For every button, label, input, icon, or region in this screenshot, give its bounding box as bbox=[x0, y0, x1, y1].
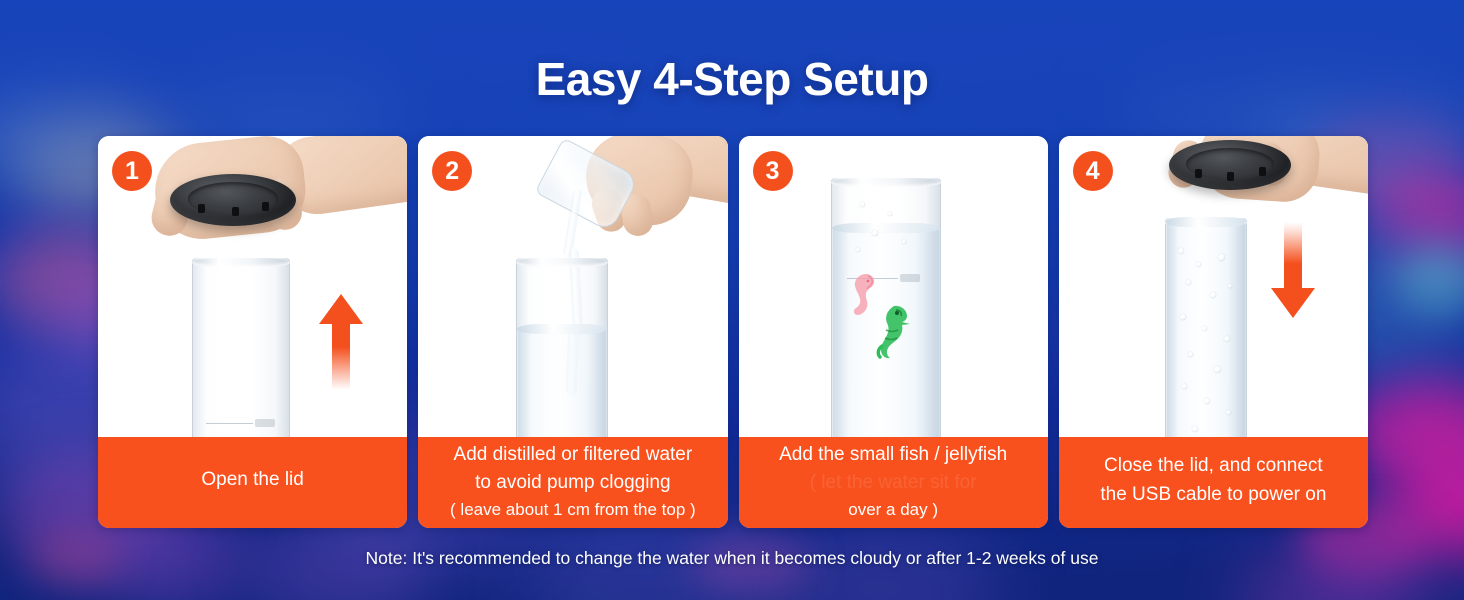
step-3-photo: 3 bbox=[739, 136, 1048, 437]
tank-tick-mark bbox=[206, 423, 252, 424]
bubble bbox=[1192, 426, 1198, 432]
tank bbox=[1165, 218, 1247, 437]
bubble bbox=[1186, 280, 1191, 285]
step-number-badge-3: 3 bbox=[753, 151, 793, 191]
bubble bbox=[1210, 292, 1216, 298]
bubble bbox=[856, 248, 860, 252]
arrow-shaft bbox=[332, 323, 350, 390]
bubble bbox=[1228, 284, 1232, 288]
bubble bbox=[872, 230, 878, 236]
lid-notch bbox=[1195, 169, 1202, 178]
step-3-caption: Add the small fish / jellyfish ( let the… bbox=[739, 437, 1048, 528]
step-4-caption: Close the lid, and connect the USB cable… bbox=[1059, 437, 1368, 528]
tank-rim bbox=[516, 258, 608, 267]
bubble bbox=[1180, 314, 1186, 320]
step-card-1[interactable]: 1 bbox=[98, 136, 407, 528]
step-4-photo: 4 bbox=[1059, 136, 1368, 437]
tank bbox=[516, 258, 608, 437]
step-card-4[interactable]: 4 bbox=[1059, 136, 1368, 528]
tank bbox=[831, 178, 941, 437]
caption-line: ( leave about 1 cm from the top ) bbox=[450, 497, 696, 522]
step-number-badge-2: 2 bbox=[432, 151, 472, 191]
arrow-head bbox=[319, 294, 363, 324]
step-2-photo: 2 bbox=[418, 136, 727, 437]
step-1-photo: 1 bbox=[98, 136, 407, 437]
down-arrow-icon bbox=[1271, 222, 1315, 318]
lid-notch bbox=[1259, 167, 1266, 176]
bubble bbox=[1226, 410, 1231, 415]
arrow-head bbox=[1271, 288, 1315, 318]
step-number-badge-1: 1 bbox=[112, 151, 152, 191]
bubble bbox=[1178, 248, 1184, 254]
bubble bbox=[888, 212, 892, 216]
step-card-3[interactable]: 3 bbox=[739, 136, 1048, 528]
bubble bbox=[860, 202, 865, 207]
page-title: Easy 4-Step Setup bbox=[0, 52, 1464, 106]
step-card-2[interactable]: 2 bbox=[418, 136, 727, 528]
bubble bbox=[1204, 398, 1210, 404]
green-seahorse bbox=[864, 300, 916, 362]
caption-line: Add the small fish / jellyfish bbox=[779, 441, 1007, 469]
tank-lid bbox=[170, 174, 296, 226]
caption-line: ( let the water sit for bbox=[810, 469, 977, 497]
step-1-caption: Open the lid bbox=[98, 437, 407, 528]
bubble bbox=[1196, 262, 1201, 267]
tank bbox=[192, 258, 290, 437]
lid-notch bbox=[1227, 172, 1234, 181]
bubble bbox=[1202, 326, 1207, 331]
steps-row: 1 bbox=[98, 136, 1368, 528]
bubble bbox=[1224, 336, 1230, 342]
lid-notch bbox=[232, 207, 239, 216]
caption-line: to avoid pump clogging bbox=[475, 469, 670, 497]
bubble bbox=[1218, 254, 1225, 261]
up-arrow-icon bbox=[319, 294, 363, 390]
bubble bbox=[902, 240, 906, 244]
water-surface bbox=[1166, 217, 1246, 227]
bubble bbox=[1214, 366, 1221, 373]
tank-rim bbox=[192, 258, 290, 267]
step-number-badge-4: 4 bbox=[1073, 151, 1113, 191]
step-2-caption: Add distilled or filtered water to avoid… bbox=[418, 437, 727, 528]
footer-note: Note: It's recommended to change the wat… bbox=[0, 548, 1464, 569]
arrow-shaft bbox=[1284, 222, 1302, 289]
tank-rim bbox=[831, 178, 941, 187]
tank-lid bbox=[1169, 140, 1291, 190]
lid-notch bbox=[262, 202, 269, 211]
water-body bbox=[518, 329, 606, 437]
bubble bbox=[1188, 352, 1193, 357]
water-surface bbox=[832, 223, 940, 233]
lid-notch bbox=[198, 204, 205, 213]
caption-line: Close the lid, and connect bbox=[1104, 452, 1323, 480]
caption-line: Add distilled or filtered water bbox=[454, 441, 693, 469]
caption-line: over a day ) bbox=[848, 497, 938, 522]
caption-line: Open the lid bbox=[201, 466, 303, 494]
water-surface bbox=[517, 324, 607, 334]
bubble bbox=[1182, 384, 1187, 389]
caption-line: the USB cable to power on bbox=[1100, 481, 1326, 509]
